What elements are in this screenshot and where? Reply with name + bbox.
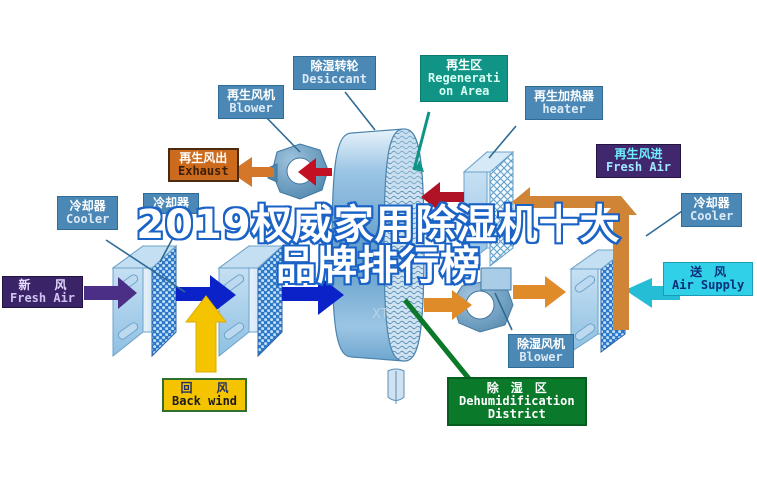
label-dehum-blower-cn: 除湿风机 <box>517 338 565 351</box>
label-exhaust-cn: 再生风出 <box>178 152 229 165</box>
label-regeneration-blower-cn: 再生风机 <box>227 89 275 102</box>
label-regen-fresh-en: Fresh Air <box>606 161 671 174</box>
dehumidifier-schematic: XT <box>0 0 757 488</box>
label-fresh-air-cn: 新 风 <box>10 279 75 292</box>
label-cooler-left-1-cn: 冷却器 <box>66 200 109 213</box>
label-cooler-left-2-cn: 冷却器 <box>153 197 189 210</box>
arrow-blower-to-supply-coil <box>513 276 566 308</box>
label-regen-area-en-1: Regenerati <box>428 72 500 85</box>
diagram-canvas: XT <box>0 0 757 488</box>
label-regeneration-blower-en: Blower <box>227 102 275 115</box>
label-cooler-left-1-en: Cooler <box>66 213 109 226</box>
label-regen-fresh-cn: 再生风进 <box>606 148 671 161</box>
label-cooler-right-en: Cooler <box>690 210 733 223</box>
desiccant-rotor-wheel: XT <box>332 129 424 404</box>
label-dehum-district-en-1: Dehumidification <box>459 395 575 408</box>
label-fresh-air-en: Fresh Air <box>10 292 75 305</box>
label-fresh-air[interactable]: 新 风 Fresh Air <box>2 276 83 308</box>
regeneration-heater <box>464 152 513 266</box>
label-desiccant-cn: 除湿转轮 <box>302 60 367 73</box>
label-regen-heater-cn: 再生加热器 <box>534 90 594 103</box>
label-exhaust[interactable]: 再生风出 Exhaust <box>168 148 239 182</box>
label-dehumidification-blower[interactable]: 除湿风机 Blower <box>508 334 574 368</box>
label-regeneration-heater[interactable]: 再生加热器 heater <box>525 86 603 120</box>
label-regeneration-fresh-air[interactable]: 再生风进 Fresh Air <box>596 144 681 178</box>
label-back-wind-en: Back wind <box>172 395 237 408</box>
label-back-wind-cn: 回 风 <box>172 382 237 395</box>
label-dehum-blower-en: Blower <box>517 351 565 364</box>
label-air-supply[interactable]: 送 风 Air Supply <box>663 262 753 296</box>
label-desiccant-en: Desiccant <box>302 73 367 86</box>
label-air-supply-cn: 送 风 <box>672 266 744 279</box>
label-cooler-right[interactable]: 冷却器 Cooler <box>681 193 742 227</box>
label-desiccant-rotor[interactable]: 除湿转轮 Desiccant <box>293 56 376 90</box>
label-back-wind[interactable]: 回 风 Back wind <box>162 378 247 412</box>
rotor-watermark: XT <box>372 307 389 322</box>
arrow-heater-to-rotor <box>421 182 464 212</box>
label-regeneration-area[interactable]: 再生区 Regenerati on Area <box>420 55 508 102</box>
arrow-regen-to-heater <box>512 187 621 217</box>
label-cooler-left-2[interactable]: 冷却器 <box>143 193 199 214</box>
label-cooler-right-cn: 冷却器 <box>690 197 733 210</box>
label-regen-area-en-2: on Area <box>428 85 500 98</box>
label-dehum-district-cn: 除 湿 区 <box>459 382 575 395</box>
label-regeneration-blower[interactable]: 再生风机 Blower <box>218 85 284 119</box>
label-regen-heater-en: heater <box>534 103 594 116</box>
label-dehumidification-district[interactable]: 除 湿 区 Dehumidification District <box>447 377 587 426</box>
label-cooler-left-1[interactable]: 冷却器 Cooler <box>57 196 118 230</box>
cooler-coil-2 <box>219 246 282 356</box>
label-regen-area-cn: 再生区 <box>428 59 500 72</box>
label-dehum-district-en-2: District <box>459 408 575 421</box>
label-air-supply-en: Air Supply <box>672 279 744 292</box>
label-exhaust-en: Exhaust <box>178 165 229 178</box>
